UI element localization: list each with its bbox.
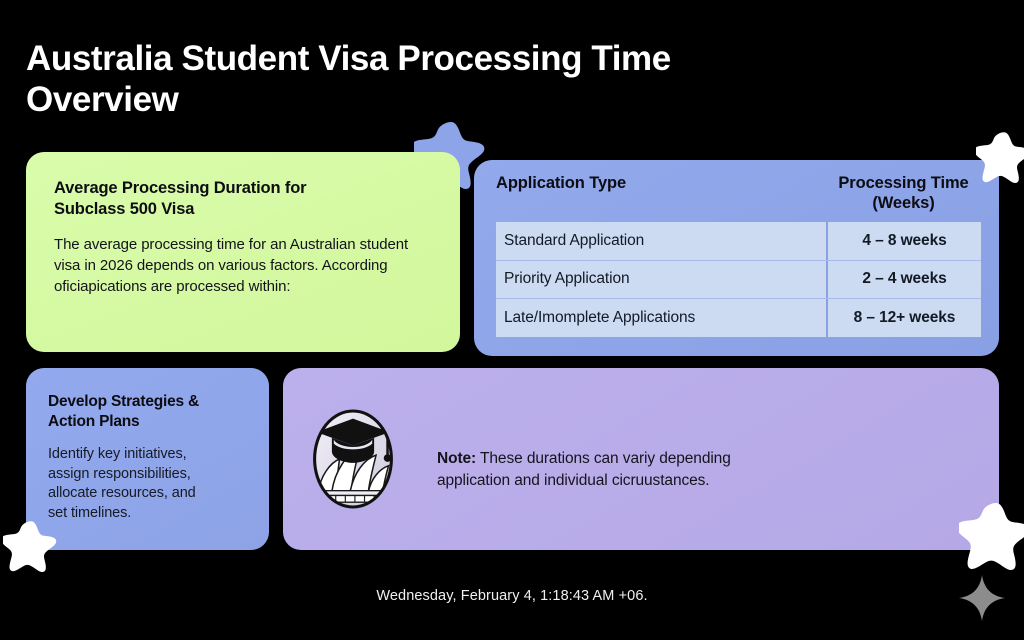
slide-canvas: Australia Student Visa Processing Time O… bbox=[0, 0, 1024, 640]
cell-processing-time: 8 – 12+ weeks bbox=[826, 299, 981, 337]
cell-application-type: Late/Imomplete Applications bbox=[496, 299, 826, 337]
table-header-row: Application Type Processing Time (Weeks) bbox=[474, 160, 999, 222]
note-body: These durations can variy depending appl… bbox=[437, 450, 731, 489]
cell-processing-time: 4 – 8 weeks bbox=[826, 222, 981, 260]
cell-application-type: Priority Application bbox=[496, 261, 826, 299]
table-row: Standard Application 4 – 8 weeks bbox=[496, 222, 981, 261]
note-card-text: Note: These durations can variy dependin… bbox=[437, 426, 731, 492]
green-card-body: The average processing time for an Austr… bbox=[54, 235, 432, 297]
green-card-title: Average Processing Duration for Subclass… bbox=[54, 178, 432, 220]
graduation-cap-opera-house-icon bbox=[305, 403, 401, 515]
footer-timestamp: Wednesday, February 4, 1:18:43 AM +06. bbox=[0, 588, 1024, 604]
table-header-application-type: Application Type bbox=[496, 174, 826, 194]
table-header-processing-time: Processing Time (Weeks) bbox=[826, 174, 981, 214]
cell-application-type: Standard Application bbox=[496, 222, 826, 260]
blue-card-title: Develop Strategies & Action Plans bbox=[48, 392, 249, 432]
card-average-processing-duration: Average Processing Duration for Subclass… bbox=[26, 152, 460, 352]
page-title: Australia Student Visa Processing Time O… bbox=[26, 38, 826, 121]
table-row: Priority Application 2 – 4 weeks bbox=[496, 261, 981, 300]
table-row: Late/Imomplete Applications 8 – 12+ week… bbox=[496, 299, 981, 337]
card-develop-strategies: Develop Strategies & Action Plans Identi… bbox=[26, 368, 269, 550]
card-processing-time-table: Application Type Processing Time (Weeks)… bbox=[474, 160, 999, 356]
card-note: Note: These durations can variy dependin… bbox=[283, 368, 999, 550]
table-body: Standard Application 4 – 8 weeks Priorit… bbox=[474, 222, 999, 337]
cell-processing-time: 2 – 4 weeks bbox=[826, 261, 981, 299]
note-label: Note: bbox=[437, 450, 476, 467]
blue-card-body: Identify key initiatives, assign respons… bbox=[48, 445, 249, 524]
